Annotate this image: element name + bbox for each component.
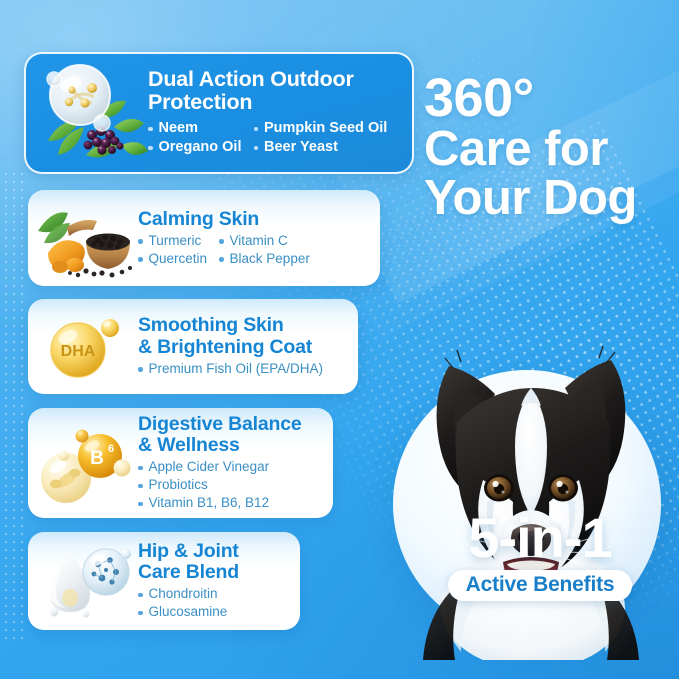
- benefit-card-calming-skin[interactable]: Calming Skin Turmeric Vitamin C Querceti…: [28, 190, 380, 286]
- card-body: Digestive Balance & Wellness Apple Cider…: [138, 414, 333, 512]
- headline-line-1: 360°: [424, 72, 676, 125]
- headline-line-2: Care for: [424, 125, 676, 174]
- card-title: Digestive Balance & Wellness: [138, 414, 325, 456]
- ingredient-label: Vitamin C: [230, 232, 288, 250]
- ingredient-list: Neem Pumpkin Seed Oil Oregano Oil Beer Y…: [148, 119, 404, 158]
- ingredient-list: Premium Fish Oil (EPA/DHA): [138, 360, 350, 378]
- droplet-molecule-icon: [34, 538, 138, 624]
- card-title: Hip & Joint Care Blend: [138, 541, 292, 583]
- active-benefits-pill: Active Benefits: [448, 570, 633, 601]
- ingredient-label: Beer Yeast: [264, 138, 338, 157]
- dha-capsule-label: DHA: [61, 343, 96, 360]
- ingredient-label: Quercetin: [149, 250, 208, 268]
- ingredient-label: Glucosamine: [149, 603, 228, 621]
- card-body: Hip & Joint Care Blend Chondroitin Gluco…: [138, 541, 300, 621]
- ingredient-item: Neem: [148, 119, 242, 138]
- ingredient-item: Quercetin: [138, 250, 207, 268]
- card-body: Smoothing Skin & Brightening Coat Premiu…: [138, 315, 358, 377]
- turmeric-black-pepper-icon: [34, 195, 138, 281]
- bullet-icon: [138, 484, 143, 489]
- bullet-icon: [138, 466, 143, 471]
- card-title-line-1: Digestive Balance: [138, 413, 302, 435]
- ingredient-item: Apple Cider Vinegar: [138, 458, 325, 476]
- ingredient-label: Pumpkin Seed Oil: [264, 119, 387, 138]
- headline-line-3: Your Dog: [424, 174, 676, 223]
- vitamin-b6-molecule-icon: B 6: [34, 420, 138, 506]
- product-infographic: 360° Care for Your Dog: [0, 0, 679, 679]
- card-title: Calming Skin: [138, 209, 372, 230]
- hero-dog-image: [383, 330, 679, 660]
- bullet-icon: [138, 257, 143, 262]
- halftone-dots-left: [2, 170, 28, 640]
- ingredient-item: Probiotics: [138, 476, 325, 494]
- ingredient-item: Chondroitin: [138, 585, 292, 603]
- dha-fish-oil-capsule-icon: DHA: [34, 304, 138, 390]
- ingredient-item: Black Pepper: [219, 250, 310, 268]
- card-body: Dual Action Outdoor Protection Neem Pump…: [148, 68, 412, 157]
- ingredient-label: Vitamin B1, B6, B12: [149, 494, 270, 512]
- card-title: Smoothing Skin & Brightening Coat: [138, 315, 350, 357]
- bullet-icon: [138, 593, 143, 598]
- card-title-line-2: & Wellness: [138, 434, 240, 456]
- ingredient-label: Apple Cider Vinegar: [149, 458, 270, 476]
- ingredient-label: Black Pepper: [230, 250, 310, 268]
- bullet-icon: [148, 146, 153, 151]
- neem-elderberry-capsule-icon: [30, 57, 148, 169]
- ingredient-item: Oregano Oil: [148, 138, 242, 157]
- dog-eye-right: [548, 475, 578, 502]
- benefit-card-smoothing-skin-brightening-coat[interactable]: DHA Smoothing Skin & Brightening Coat Pr…: [28, 299, 358, 394]
- card-title-line-1: Hip & Joint: [138, 540, 239, 562]
- ingredient-label: Premium Fish Oil (EPA/DHA): [149, 360, 324, 378]
- bullet-icon: [254, 127, 259, 132]
- card-title-line-1: Dual Action Outdoor: [148, 67, 354, 91]
- card-title-line-1: Smoothing Skin: [138, 314, 284, 336]
- card-title-line-2: Care Blend: [138, 561, 239, 583]
- ingredient-list: Turmeric Vitamin C Quercetin Black Peppe…: [138, 232, 372, 268]
- ingredient-item: Pumpkin Seed Oil: [254, 119, 388, 138]
- benefit-card-dual-action-outdoor-protection[interactable]: Dual Action Outdoor Protection Neem Pump…: [24, 52, 414, 174]
- ingredient-item: Turmeric: [138, 232, 207, 250]
- ingredient-item: Beer Yeast: [254, 138, 388, 157]
- page-title: 360° Care for Your Dog: [424, 72, 676, 222]
- b6-superscript: 6: [108, 443, 114, 455]
- ingredient-label: Turmeric: [149, 232, 202, 250]
- ingredient-item: Premium Fish Oil (EPA/DHA): [138, 360, 350, 378]
- bullet-icon: [254, 146, 259, 151]
- ingredient-list: Chondroitin Glucosamine: [138, 585, 292, 621]
- ingredient-label: Oregano Oil: [159, 138, 242, 157]
- ingredient-item: Vitamin B1, B6, B12: [138, 494, 325, 512]
- bullet-icon: [219, 257, 224, 262]
- bullet-icon: [138, 611, 143, 616]
- bullet-icon: [138, 367, 143, 372]
- ingredient-label: Neem: [159, 119, 199, 138]
- benefit-card-hip-joint-care-blend[interactable]: Hip & Joint Care Blend Chondroitin Gluco…: [28, 532, 300, 630]
- card-title-line-2: & Brightening Coat: [138, 336, 312, 358]
- bullet-icon: [138, 239, 143, 244]
- bullet-icon: [148, 127, 153, 132]
- ingredient-list: Apple Cider Vinegar Probiotics Vitamin B…: [138, 458, 325, 512]
- benefit-card-digestive-balance-wellness[interactable]: B 6 Digestive Balance & Wellness Apple C…: [28, 408, 333, 518]
- five-in-one-badge: 5-in-1 Active Benefits: [414, 510, 666, 601]
- ingredient-label: Chondroitin: [149, 585, 218, 603]
- card-body: Calming Skin Turmeric Vitamin C Querceti…: [138, 209, 380, 268]
- dog-eye-left: [484, 475, 514, 502]
- card-title-line-2: Protection: [148, 90, 252, 114]
- benefit-count-text: 5-in-1: [414, 510, 666, 566]
- card-title: Dual Action Outdoor Protection: [148, 68, 404, 114]
- b6-label: B: [90, 448, 104, 469]
- ingredient-label: Probiotics: [149, 476, 208, 494]
- ingredient-item: Vitamin C: [219, 232, 310, 250]
- bullet-icon: [219, 239, 224, 244]
- bullet-icon: [138, 502, 143, 507]
- border-collie-dog-illustration: [383, 330, 679, 660]
- ingredient-item: Glucosamine: [138, 603, 292, 621]
